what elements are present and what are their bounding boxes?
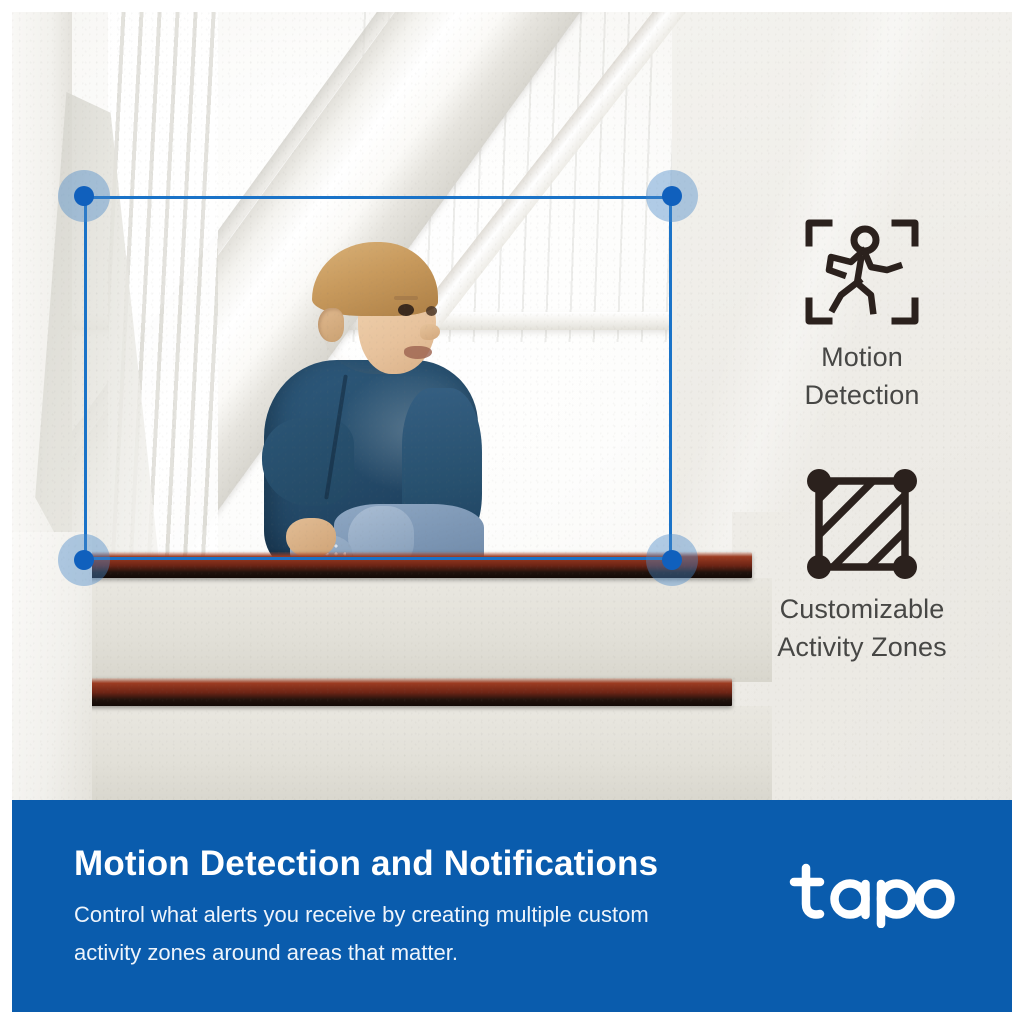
promo-canvas: Motion Detection	[0, 0, 1024, 1024]
feature-label-line1: Customizable	[712, 590, 1012, 628]
motion-detection-icon	[712, 212, 1012, 332]
stair-tread-upper	[42, 578, 772, 682]
hero-photo: Motion Detection	[12, 12, 1012, 800]
feature-label-line2: Detection	[712, 376, 1012, 414]
zone-handle-top-left[interactable]	[58, 170, 110, 222]
feature-motion-detection-label: Motion Detection	[712, 338, 1012, 414]
stair-tread-lower	[12, 706, 772, 800]
activity-zone-rectangle[interactable]	[84, 196, 672, 560]
feature-label-line2: Activity Zones	[712, 628, 1012, 666]
banner-subtitle: Control what alerts you receive by creat…	[74, 896, 754, 972]
banner-subtitle-line1: Control what alerts you receive by creat…	[74, 896, 754, 934]
activity-zones-icon	[712, 464, 1012, 584]
stair-nosing-lower	[32, 678, 732, 706]
banner-title: Motion Detection and Notifications	[74, 844, 658, 884]
feature-motion-detection: Motion Detection	[712, 212, 1012, 414]
zone-handle-top-right[interactable]	[646, 170, 698, 222]
tapo-logo	[788, 862, 958, 928]
feature-activity-zones-label: Customizable Activity Zones	[712, 590, 1012, 666]
feature-label-line1: Motion	[712, 338, 1012, 376]
feature-activity-zones: Customizable Activity Zones	[712, 464, 1012, 666]
zone-handle-bottom-left[interactable]	[58, 534, 110, 586]
zone-handle-bottom-right[interactable]	[646, 534, 698, 586]
banner-subtitle-line2: activity zones around areas that matter.	[74, 934, 754, 972]
